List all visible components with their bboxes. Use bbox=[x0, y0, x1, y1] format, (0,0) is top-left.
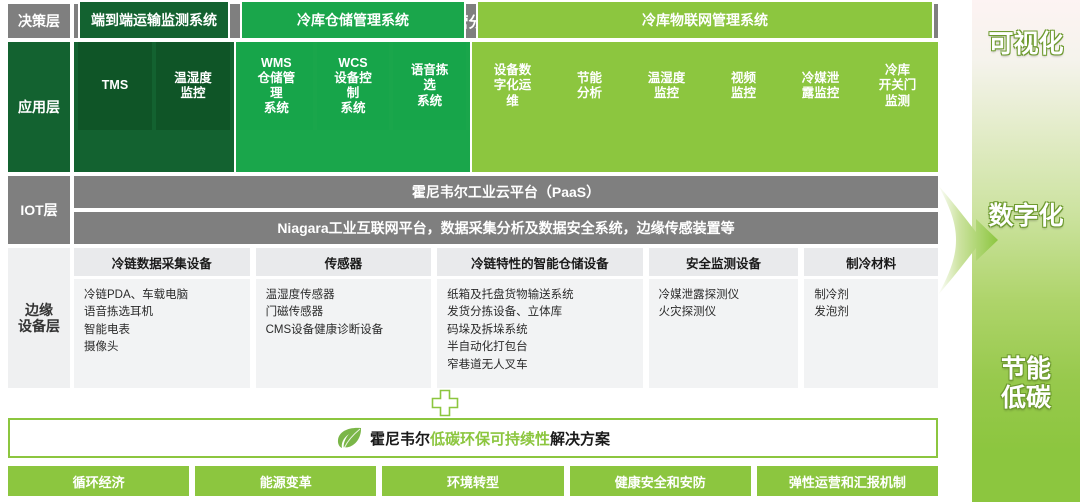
line3: 系统 bbox=[417, 94, 442, 108]
edge-item: 摄像头 bbox=[84, 339, 242, 356]
layer-label-application-text: 应用层 bbox=[18, 99, 60, 115]
line1: WCS bbox=[338, 56, 367, 70]
line2: 开关门 bbox=[879, 78, 917, 92]
line1: 节能 bbox=[577, 71, 602, 85]
edge-device-columns: 冷链数据采集设备 冷链PDA、车载电脑 语音拣选耳机 智能电表 摄像头 传感器 … bbox=[74, 248, 938, 388]
app-cell-temp-humidity-monitor-2[interactable]: 温湿度 监控 bbox=[630, 42, 703, 130]
edge-item: 冷链PDA、车载电脑 bbox=[84, 287, 242, 304]
app-cells-cold-storage: WMS 仓储管 理 系统 WCS 设备控 制 系统 语音拣 选 系统 bbox=[240, 42, 466, 130]
footer-pill-row: 循环经济 能源变革 环境转型 健康安全和安防 弹性运营和汇报机制 bbox=[8, 466, 938, 496]
line2: 露监控 bbox=[802, 86, 840, 100]
edge-column-body: 制冷剂 发泡剂 bbox=[804, 279, 938, 388]
edge-column-header[interactable]: 安全监测设备 bbox=[649, 248, 799, 276]
app-cell-voice-picking-label: 语音拣 选 系统 bbox=[411, 63, 449, 109]
line1: WMS bbox=[261, 56, 292, 70]
edge-header-text: 冷链特性的智能仓储设备 bbox=[471, 253, 609, 272]
app-cell-cold-room-door-monitor[interactable]: 冷库 开关门 监测 bbox=[861, 42, 934, 130]
edge-item: 制冷剂 bbox=[814, 287, 930, 304]
edge-item: 发泡剂 bbox=[814, 304, 930, 321]
edge-column-refrigeration-materials: 制冷材料 制冷剂 发泡剂 bbox=[804, 248, 938, 388]
sustainability-solution-text: 霍尼韦尔低碳环保可持续性解决方案 bbox=[370, 428, 610, 449]
edge-item: 发货分拣设备、立体库 bbox=[447, 304, 635, 321]
layer-label-application: 应用层 bbox=[8, 42, 70, 172]
footer-pill-resilient-operations[interactable]: 弹性运营和汇报机制 bbox=[757, 466, 938, 496]
app-cell-cold-room-door-monitor-label: 冷库 开关门 监测 bbox=[879, 63, 917, 109]
edge-column-smart-warehouse: 冷链特性的智能仓储设备 纸箱及托盘货物输送系统 发货分拣设备、立体库 码垛及拆垛… bbox=[437, 248, 643, 388]
app-cell-temp-humidity-monitor-label: 温湿度 监控 bbox=[174, 71, 212, 102]
app-cell-tms[interactable]: TMS bbox=[78, 42, 152, 130]
layer-label-edge-line2: 设备层 bbox=[18, 318, 60, 334]
layer-label-iot-text: IOT层 bbox=[20, 202, 57, 218]
app-cell-wms-label: WMS 仓储管 理 系统 bbox=[258, 56, 296, 117]
app-cell-wcs[interactable]: WCS 设备控 制 系统 bbox=[317, 42, 390, 130]
line1: 冷库 bbox=[885, 63, 910, 77]
edge-column-data-collection: 冷链数据采集设备 冷链PDA、车载电脑 语音拣选耳机 智能电表 摄像头 bbox=[74, 248, 250, 388]
app-cell-temp-humidity-monitor[interactable]: 温湿度 监控 bbox=[156, 42, 230, 130]
footer-pill-label: 能源变革 bbox=[260, 472, 312, 491]
edge-item: 温湿度传感器 bbox=[266, 287, 424, 304]
edge-column-header[interactable]: 冷链数据采集设备 bbox=[74, 248, 250, 276]
line1: 冷媒泄 bbox=[802, 71, 840, 85]
outcome-low-carbon-line2: 低碳 bbox=[1001, 384, 1051, 412]
leaf-icon bbox=[336, 427, 362, 449]
layer-label-decision: 决策层 bbox=[8, 4, 70, 38]
edge-item: 门磁传感器 bbox=[266, 304, 424, 321]
edge-item: 半自动化打包台 bbox=[447, 339, 635, 356]
footer-pill-label: 循环经济 bbox=[73, 472, 125, 491]
line2: 监控 bbox=[654, 86, 679, 100]
app-group-header-transport[interactable]: 端到端运输监测系统 bbox=[78, 0, 230, 40]
line2: 监控 bbox=[180, 86, 205, 100]
app-cell-temp-humidity-monitor-2-label: 温湿度 监控 bbox=[648, 71, 686, 102]
iot-niagara-bar: Niagara工业互联网平台，数据采集分析及数据安全系统，边缘传感装置等 bbox=[74, 212, 938, 244]
line3: 制 bbox=[347, 86, 360, 100]
app-group-header-cold-storage-text: 冷库仓储管理系统 bbox=[297, 10, 409, 30]
edge-item: 火灾探测仪 bbox=[659, 304, 791, 321]
edge-item: 语音拣选耳机 bbox=[84, 304, 242, 321]
edge-item: 冷媒泄露探测仪 bbox=[659, 287, 791, 304]
line1: 语音拣 bbox=[411, 63, 449, 77]
edge-column-body: 纸箱及托盘货物输送系统 发货分拣设备、立体库 码垛及拆垛系统 半自动化打包台 窄… bbox=[437, 279, 643, 388]
app-group-header-cold-iot[interactable]: 冷库物联网管理系统 bbox=[476, 0, 934, 40]
iot-niagara-text: Niagara工业互联网平台，数据采集分析及数据安全系统，边缘传感装置等 bbox=[277, 218, 734, 238]
iot-paas-text: 霍尼韦尔工业云平台（PaaS） bbox=[412, 182, 600, 202]
layer-label-iot: IOT层 bbox=[8, 176, 70, 244]
app-group-header-cold-storage[interactable]: 冷库仓储管理系统 bbox=[240, 0, 466, 40]
line2: 监控 bbox=[731, 86, 756, 100]
app-cell-refrigerant-leak-monitor-label: 冷媒泄 露监控 bbox=[802, 71, 840, 102]
footer-pill-circular-economy[interactable]: 循环经济 bbox=[8, 466, 189, 496]
app-group-header-cold-iot-text: 冷库物联网管理系统 bbox=[642, 10, 768, 30]
edge-header-text: 传感器 bbox=[325, 253, 363, 272]
app-cell-wms[interactable]: WMS 仓储管 理 系统 bbox=[240, 42, 313, 130]
line1: 温湿度 bbox=[174, 71, 212, 85]
edge-item: 智能电表 bbox=[84, 322, 242, 339]
app-cell-refrigerant-leak-monitor[interactable]: 冷媒泄 露监控 bbox=[784, 42, 857, 130]
edge-column-body: 冷媒泄露探测仪 火灾探测仪 bbox=[649, 279, 799, 388]
iot-paas-bar: 霍尼韦尔工业云平台（PaaS） bbox=[74, 176, 938, 208]
right-arrow-icon bbox=[936, 185, 1000, 295]
footer-pill-energy-transition[interactable]: 能源变革 bbox=[195, 466, 376, 496]
edge-item: 窄巷道无人叉车 bbox=[447, 357, 635, 374]
plus-icon bbox=[431, 389, 459, 417]
footer-pill-label: 环境转型 bbox=[447, 472, 499, 491]
app-cell-video-monitor[interactable]: 视频 监控 bbox=[707, 42, 780, 130]
layer-label-edge-text: 边缘 设备层 bbox=[18, 302, 60, 334]
edge-column-safety-monitoring: 安全监测设备 冷媒泄露探测仪 火灾探测仪 bbox=[649, 248, 799, 388]
outcome-visualization-text: 可视化 bbox=[988, 30, 1063, 58]
edge-column-sensors: 传感器 温湿度传感器 门磁传感器 CMS设备健康诊断设备 bbox=[256, 248, 432, 388]
layer-label-edge-line1: 边缘 bbox=[25, 302, 53, 318]
footer-pill-environment-transition[interactable]: 环境转型 bbox=[382, 466, 563, 496]
app-cells-cold-iot: 设备数 字化运 维 节能 分析 温湿度 监控 视频 监控 冷媒泄 bbox=[476, 42, 934, 130]
app-cell-equipment-digital-om-label: 设备数 字化运 维 bbox=[494, 63, 532, 109]
sustainability-solution-bar[interactable]: 霍尼韦尔低碳环保可持续性解决方案 bbox=[8, 418, 938, 458]
edge-header-text: 安全监测设备 bbox=[686, 253, 761, 272]
footer-pill-health-safety-security[interactable]: 健康安全和安防 bbox=[570, 466, 751, 496]
line1: 视频 bbox=[731, 71, 756, 85]
app-cell-tms-label: TMS bbox=[102, 78, 128, 93]
line1: 温湿度 bbox=[648, 71, 686, 85]
solution-suffix: 解决方案 bbox=[550, 431, 610, 448]
line2: 仓储管 bbox=[258, 71, 296, 85]
app-cells-transport: TMS 温湿度 监控 bbox=[78, 42, 230, 130]
outcome-low-carbon: 节能 低碳 bbox=[972, 355, 1080, 413]
outcome-visualization: 可视化 bbox=[972, 30, 1080, 59]
edge-column-header[interactable]: 冷链特性的智能仓储设备 bbox=[437, 248, 643, 276]
app-cell-equipment-digital-om[interactable]: 设备数 字化运 维 bbox=[476, 42, 549, 130]
line2: 设备控 bbox=[334, 71, 372, 85]
footer-pill-label: 弹性运营和汇报机制 bbox=[789, 472, 906, 491]
line3: 理 bbox=[270, 86, 283, 100]
layer-label-decision-text: 决策层 bbox=[18, 13, 60, 29]
edge-header-text: 制冷材料 bbox=[846, 253, 896, 272]
solution-highlight: 低碳环保可持续性 bbox=[430, 431, 550, 448]
solution-prefix: 霍尼韦尔 bbox=[370, 431, 430, 448]
app-cell-voice-picking[interactable]: 语音拣 选 系统 bbox=[393, 42, 466, 130]
app-cell-video-monitor-label: 视频 监控 bbox=[731, 71, 756, 102]
edge-item: 码垛及拆垛系统 bbox=[447, 322, 635, 339]
line4: 系统 bbox=[341, 101, 366, 115]
edge-column-body: 温湿度传感器 门磁传感器 CMS设备健康诊断设备 bbox=[256, 279, 432, 388]
footer-pill-label: 健康安全和安防 bbox=[615, 472, 706, 491]
edge-header-text: 冷链数据采集设备 bbox=[112, 253, 212, 272]
line1: 设备数 bbox=[494, 63, 532, 77]
edge-item: CMS设备健康诊断设备 bbox=[266, 322, 424, 339]
edge-item: 纸箱及托盘货物输送系统 bbox=[447, 287, 635, 304]
line2: 分析 bbox=[577, 86, 602, 100]
app-cell-wcs-label: WCS 设备控 制 系统 bbox=[334, 56, 372, 117]
line2: 选 bbox=[423, 78, 436, 92]
app-cell-energy-saving-analysis-label: 节能 分析 bbox=[577, 71, 602, 102]
line3: 监测 bbox=[885, 94, 910, 108]
edge-column-body: 冷链PDA、车载电脑 语音拣选耳机 智能电表 摄像头 bbox=[74, 279, 250, 388]
line2: 字化运 bbox=[494, 78, 532, 92]
outcome-low-carbon-line1: 节能 bbox=[1001, 355, 1051, 383]
app-group-header-transport-text: 端到端运输监测系统 bbox=[91, 10, 217, 30]
line3: 维 bbox=[506, 94, 519, 108]
line4: 系统 bbox=[264, 101, 289, 115]
architecture-diagram: 决策层 应用层 IOT层 边缘 设备层 运营分析可视化平台 端到端运输监测系统 … bbox=[0, 0, 1080, 502]
edge-column-header[interactable]: 制冷材料 bbox=[804, 248, 938, 276]
edge-column-header[interactable]: 传感器 bbox=[256, 248, 432, 276]
layer-label-edge: 边缘 设备层 bbox=[8, 248, 70, 388]
app-cell-energy-saving-analysis[interactable]: 节能 分析 bbox=[553, 42, 626, 130]
